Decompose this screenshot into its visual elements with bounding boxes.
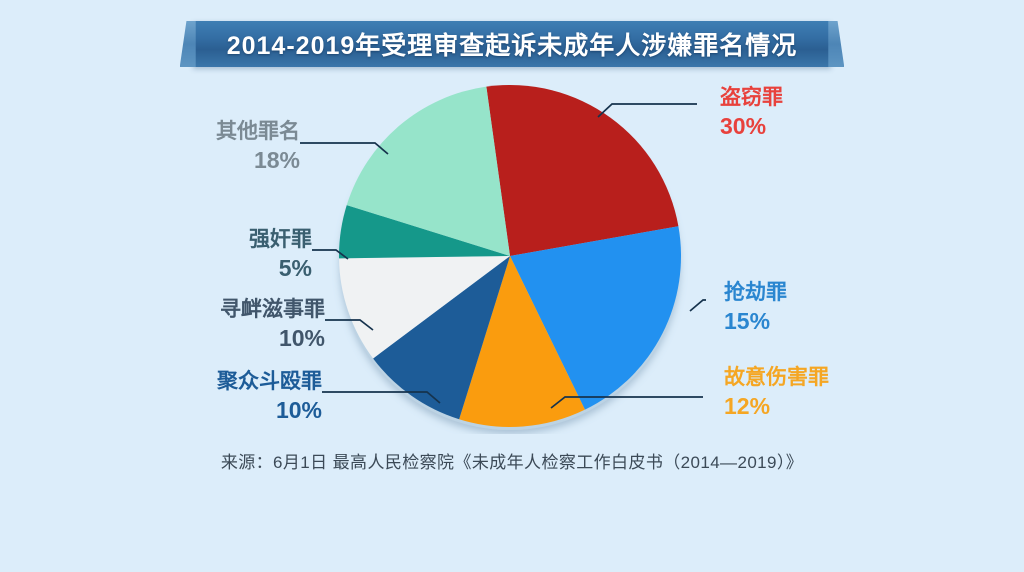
label-affray-name: 聚众斗殴罪: [217, 370, 322, 395]
label-injury: 故意伤害罪 12%: [724, 366, 829, 420]
label-other: 其他罪名 18%: [216, 120, 300, 174]
source-caption: 来源：6月1日 最高人民检察院《未成年人检察工作白皮书（2014—2019）》: [0, 448, 1024, 473]
label-theft-name: 盗窃罪: [720, 86, 783, 111]
label-rape-pct: 5%: [249, 255, 312, 282]
label-rape-name: 强奸罪: [249, 228, 312, 253]
label-injury-name: 故意伤害罪: [724, 366, 829, 391]
label-rape: 强奸罪 5%: [249, 228, 312, 282]
label-injury-pct: 12%: [724, 393, 829, 420]
label-affray-pct: 10%: [217, 397, 322, 424]
pie-slice-theft: [486, 85, 678, 256]
chart-stage: 盗窃罪 30% 抢劫罪 15% 故意伤害罪 12% 其他罪名 18% 强奸罪 5…: [0, 0, 1024, 572]
label-other-pct: 18%: [216, 147, 300, 174]
leader-line-robbery: [690, 300, 706, 311]
pie-slices: [339, 85, 681, 427]
label-provoke-pct: 10%: [220, 325, 325, 352]
label-theft: 盗窃罪 30%: [720, 86, 783, 140]
pie-chart: [332, 78, 688, 434]
label-affray: 聚众斗殴罪 10%: [217, 370, 322, 424]
label-provoke: 寻衅滋事罪 10%: [220, 298, 325, 352]
label-robbery-name: 抢劫罪: [724, 281, 787, 306]
label-other-name: 其他罪名: [216, 120, 300, 145]
label-provoke-name: 寻衅滋事罪: [220, 298, 325, 323]
label-theft-pct: 30%: [720, 113, 783, 140]
label-robbery-pct: 15%: [724, 308, 787, 335]
label-robbery: 抢劫罪 15%: [724, 281, 787, 335]
page-title: 2014-2019年受理审查起诉未成年人涉嫌罪名情况: [227, 26, 798, 62]
title-banner: 2014-2019年受理审查起诉未成年人涉嫌罪名情况: [193, 21, 832, 67]
